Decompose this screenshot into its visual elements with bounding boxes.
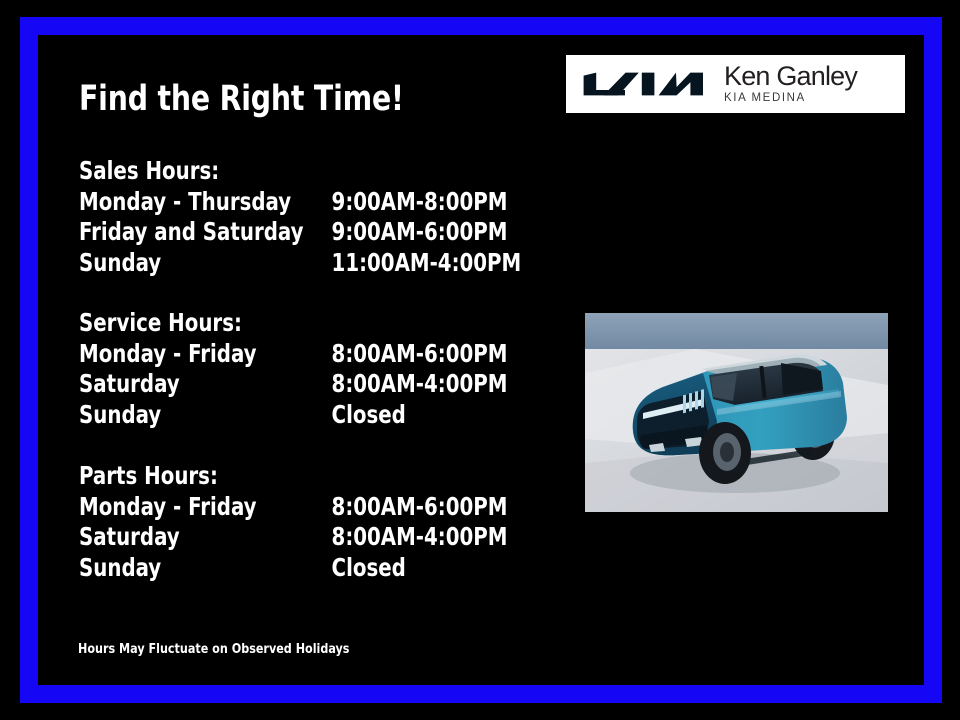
hours-row-days: Sunday xyxy=(79,248,161,279)
hours-row: Monday - Friday 8:00AM-6:00PM xyxy=(79,339,493,370)
hours-section-heading: Sales Hours: xyxy=(79,156,493,187)
holiday-disclaimer: Hours May Fluctuate on Observed Holidays xyxy=(78,641,349,657)
hours-row: Sunday Closed xyxy=(79,553,493,584)
hours-row-days: Saturday xyxy=(79,522,180,553)
hours-row-time: Closed xyxy=(332,400,406,431)
dealer-name-group: Ken Ganley KIA MEDINA xyxy=(724,63,857,105)
hours-row-time: 8:00AM-4:00PM xyxy=(332,522,508,553)
hours-row-days: Saturday xyxy=(79,369,180,400)
hours-row-time: 8:00AM-4:00PM xyxy=(332,369,508,400)
dealer-name: Ken Ganley xyxy=(724,63,857,90)
hours-row-days: Sunday xyxy=(79,400,161,431)
dealer-logo: Ken Ganley KIA MEDINA xyxy=(566,55,905,113)
kia-logo-icon xyxy=(580,69,706,99)
hours-row: Monday - Friday 8:00AM-6:00PM xyxy=(79,492,493,523)
hours-section-parts: Parts Hours: Monday - Friday 8:00AM-6:00… xyxy=(79,461,493,583)
hours-row-days: Monday - Friday xyxy=(79,492,257,523)
vehicle-illustration xyxy=(585,313,888,512)
hours-row-time: 8:00AM-6:00PM xyxy=(332,492,508,523)
hours-row-time: Closed xyxy=(332,553,406,584)
hours-row-time: 11:00AM-4:00PM xyxy=(332,248,522,279)
kia-ev9-suv-photo xyxy=(585,313,888,512)
hours-row: Friday and Saturday 9:00AM-6:00PM xyxy=(79,217,493,248)
hours-section-heading: Service Hours: xyxy=(79,308,493,339)
hours-section-service: Service Hours: Monday - Friday 8:00AM-6:… xyxy=(79,308,493,430)
hours-row: Monday - Thursday 9:00AM-8:00PM xyxy=(79,187,493,218)
slide-canvas: Find the Right Time! Sales Hours: Monday… xyxy=(0,0,960,720)
hours-row: Sunday Closed xyxy=(79,400,493,431)
hours-section-heading: Parts Hours: xyxy=(79,461,493,492)
hours-row-days: Monday - Friday xyxy=(79,339,257,370)
page-title: Find the Right Time! xyxy=(79,79,404,119)
dealer-subtitle: KIA MEDINA xyxy=(724,93,857,105)
hours-section-sales: Sales Hours: Monday - Thursday 9:00AM-8:… xyxy=(79,156,493,278)
hours-row: Saturday 8:00AM-4:00PM xyxy=(79,369,493,400)
hours-row: Saturday 8:00AM-4:00PM xyxy=(79,522,493,553)
hours-row: Sunday 11:00AM-4:00PM xyxy=(79,248,493,279)
hours-row-days: Monday - Thursday xyxy=(79,187,291,218)
hours-row-time: 9:00AM-6:00PM xyxy=(332,217,508,248)
hours-row-time: 8:00AM-6:00PM xyxy=(332,339,508,370)
hours-row-days: Friday and Saturday xyxy=(79,217,303,248)
hours-row-days: Sunday xyxy=(79,553,161,584)
hours-row-time: 9:00AM-8:00PM xyxy=(332,187,508,218)
